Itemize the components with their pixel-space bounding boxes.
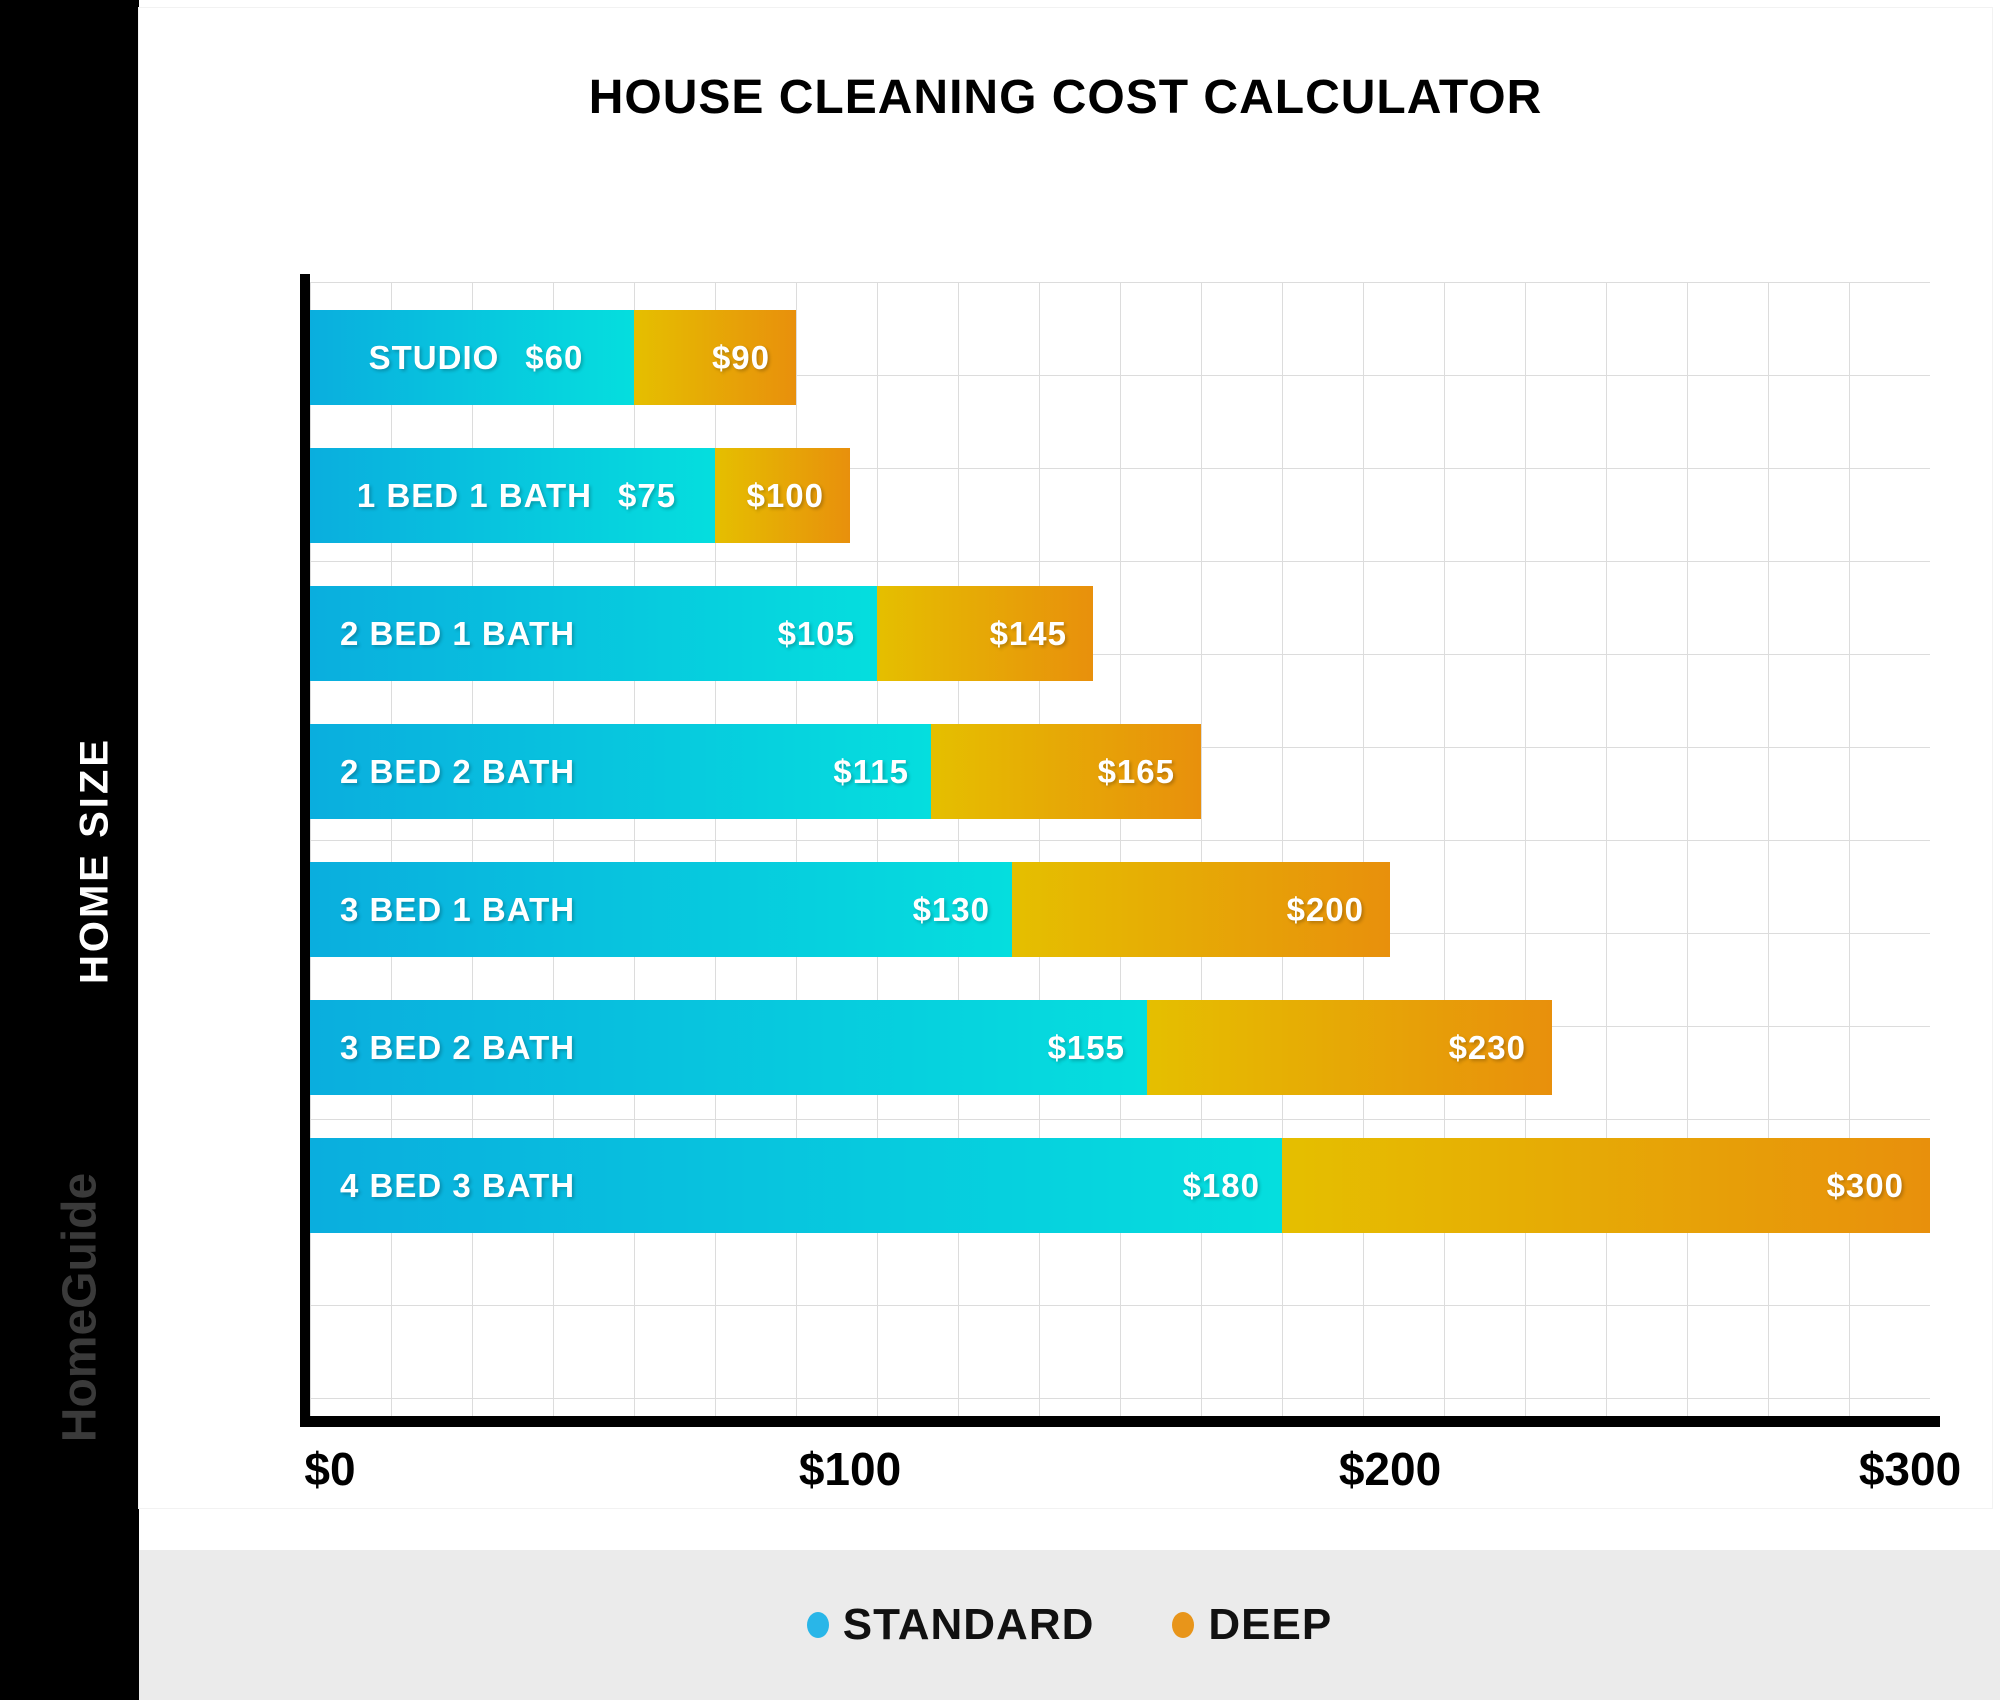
bar-value-standard: $60: [525, 339, 583, 377]
bar-category-label: 3 BED 1 BATH: [340, 891, 575, 929]
bar-value-deep: $90: [712, 339, 770, 377]
legend-item[interactable]: DEEP: [1172, 1600, 1332, 1650]
bar-row: STUDIO$60$90: [310, 310, 796, 405]
bar-value-standard: $155: [1048, 1029, 1125, 1067]
chart-card: HOUSE CLEANING COST CALCULATOR STUDIO$60…: [139, 0, 2000, 1700]
x-axis-tick-labels: $0$100$200$300: [310, 1442, 1930, 1522]
bar-value-deep: $165: [1098, 753, 1175, 791]
bar-value-standard: $115: [833, 753, 909, 791]
left-rail: HOME SIZE HomeGuide: [0, 0, 139, 1700]
bar-value-standard: $130: [913, 891, 990, 929]
legend-item[interactable]: STANDARD: [807, 1600, 1095, 1650]
bar-row: 3 BED 1 BATH$130$200: [310, 862, 1390, 957]
brand-watermark: HomeGuide: [53, 1078, 108, 1538]
chart-card-inner: HOUSE CLEANING COST CALCULATOR STUDIO$60…: [139, 8, 1992, 1508]
legend-label: DEEP: [1208, 1600, 1332, 1650]
bar-value-deep: $300: [1827, 1167, 1904, 1205]
bar-category-label: 2 BED 1 BATH: [340, 615, 575, 653]
bar-value-deep: $100: [747, 477, 824, 515]
bar-row: 1 BED 1 BATH$75$100: [310, 448, 850, 543]
dot-icon: [807, 1612, 829, 1638]
bar-segment-deep: $165: [931, 724, 1201, 819]
bar-segment-standard: 2 BED 1 BATH$105: [310, 586, 877, 681]
bar-value-deep: $200: [1287, 891, 1364, 929]
bar-row: 2 BED 2 BATH$115$165: [310, 724, 1201, 819]
bar-value-standard: $105: [778, 615, 855, 653]
bar-segment-standard: 2 BED 2 BATH$115: [310, 724, 931, 819]
legend-band: STANDARDDEEP: [139, 1550, 2000, 1700]
bar-segment-standard: 3 BED 1 BATH$130: [310, 862, 1012, 957]
bar-segment-deep: $100: [715, 448, 850, 543]
legend-label: STANDARD: [843, 1600, 1095, 1650]
bar-group: STUDIO$60$901 BED 1 BATH$75$1002 BED 1 B…: [310, 282, 1930, 1416]
x-axis-line: [300, 1416, 1940, 1427]
legend: STANDARDDEEP: [139, 1550, 2000, 1700]
bar-segment-deep: $230: [1147, 1000, 1552, 1095]
bar-row: 4 BED 3 BATH$180$300: [310, 1138, 1930, 1233]
bar-row: 2 BED 1 BATH$105$145: [310, 586, 1093, 681]
bar-segment-standard: 4 BED 3 BATH$180: [310, 1138, 1282, 1233]
bar-segment-deep: $145: [877, 586, 1093, 681]
dot-icon: [1172, 1612, 1194, 1638]
bar-value-deep: $230: [1449, 1029, 1526, 1067]
plot-area: STUDIO$60$901 BED 1 BATH$75$1002 BED 1 B…: [310, 282, 1930, 1416]
bar-segment-standard: 1 BED 1 BATH$75: [310, 448, 715, 543]
bar-category-label: 1 BED 1 BATH: [357, 477, 592, 515]
infographic-root: HOME SIZE HomeGuide HOUSE CLEANING COST …: [0, 0, 2000, 1700]
x-tick-label: $300: [1859, 1442, 1961, 1496]
bar-segment-standard: STUDIO$60: [310, 310, 634, 405]
bar-category-label: STUDIO: [369, 339, 500, 377]
bar-category-label: 2 BED 2 BATH: [340, 753, 575, 791]
x-tick-label: $0: [304, 1442, 355, 1496]
bar-segment-deep: $200: [1012, 862, 1390, 957]
x-tick-label: $200: [1339, 1442, 1441, 1496]
bar-value-standard: $180: [1183, 1167, 1260, 1205]
bar-segment-standard: 3 BED 2 BATH$155: [310, 1000, 1147, 1095]
page-title: HOUSE CLEANING COST CALCULATOR: [139, 70, 1992, 125]
bar-segment-deep: $90: [634, 310, 796, 405]
bar-value-deep: $145: [990, 615, 1067, 653]
bar-segment-deep: $300: [1282, 1138, 1930, 1233]
x-tick-label: $100: [799, 1442, 901, 1496]
bar-category-label: 4 BED 3 BATH: [340, 1167, 575, 1205]
bar-value-standard: $75: [618, 477, 676, 515]
bar-row: 3 BED 2 BATH$155$230: [310, 1000, 1552, 1095]
y-axis-line: [300, 274, 310, 1426]
bar-category-label: 3 BED 2 BATH: [340, 1029, 575, 1067]
